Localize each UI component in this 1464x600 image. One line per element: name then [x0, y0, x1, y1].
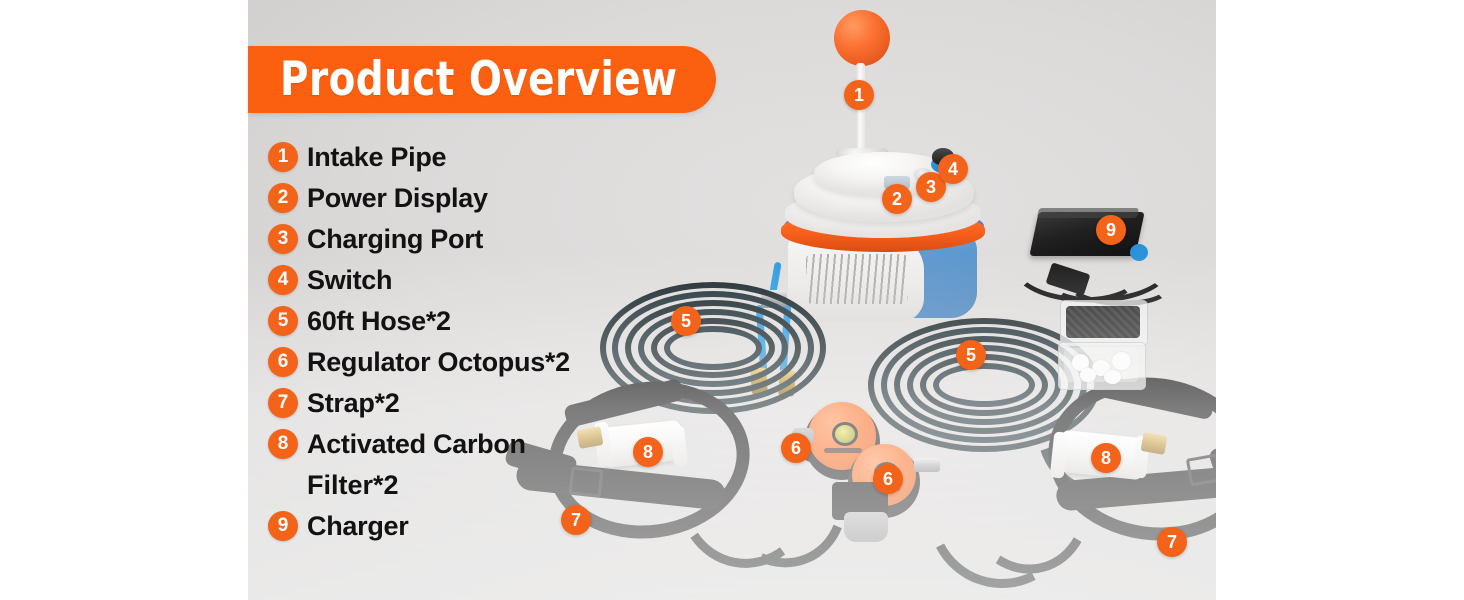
legend-item-charger: 9 Charger [268, 507, 668, 548]
legend-item-intake-pipe: 1 Intake Pipe [268, 138, 668, 179]
legend-label: Intake Pipe [307, 138, 446, 176]
photo-badge-switch: 4 [938, 154, 968, 184]
legend-item-charging-port: 3 Charging Port [268, 220, 668, 261]
legend-label: Strap*2 [307, 384, 399, 422]
photo-badge-charger: 9 [1096, 215, 1126, 245]
legend-item-regulator-octopus: 6 Regulator Octopus*2 [268, 343, 668, 384]
strap-buckle-right [1186, 453, 1216, 486]
legend-label: Charger [307, 507, 408, 545]
legend-badge: 3 [268, 224, 298, 254]
legend-list: 1 Intake Pipe 2 Power Display 3 Charging… [268, 138, 668, 548]
legend-item-activated-carbon-filter-line2: Filter*2 [268, 466, 668, 507]
legend-item-hose: 5 60ft Hose*2 [268, 302, 668, 343]
legend-badge: 6 [268, 347, 298, 377]
photo-badge-strap-right: 7 [1157, 527, 1187, 557]
product-overview-infographic: 1 2 3 4 5 5 6 6 7 7 8 8 9 Product Overvi… [0, 0, 1464, 600]
legend-item-activated-carbon-filter: 8 Activated Carbon [268, 425, 668, 466]
legend-item-strap: 7 Strap*2 [268, 384, 668, 425]
page-title: Product Overview [280, 56, 678, 103]
legend-label: Switch [307, 261, 392, 299]
legend-label: 60ft Hose*2 [307, 302, 451, 340]
legend-label: Regulator Octopus*2 [307, 343, 570, 381]
photo-badge-regulator-left: 6 [781, 433, 811, 463]
photo-badge-regulator-right: 6 [873, 464, 903, 494]
title-banner: Product Overview [248, 46, 716, 113]
photo-badge-intake-pipe: 1 [844, 80, 874, 110]
legend-badge: 2 [268, 183, 298, 213]
legend-badge: 5 [268, 306, 298, 336]
photo-badge-hose-coil-left: 5 [671, 306, 701, 336]
legend-label: Activated Carbon [307, 425, 526, 463]
legend-label-continuation: Filter*2 [307, 466, 399, 504]
legend-item-power-display: 2 Power Display [268, 179, 668, 220]
legend-badge: 7 [268, 388, 298, 418]
legend-item-switch: 4 Switch [268, 261, 668, 302]
legend-label: Charging Port [307, 220, 483, 258]
legend-label: Power Display [307, 179, 488, 217]
legend-badge: 1 [268, 142, 298, 172]
photo-badge-power-display: 2 [882, 184, 912, 214]
legend-badge: 9 [268, 511, 298, 541]
legend-badge: 8 [268, 429, 298, 459]
legend-badge: 4 [268, 265, 298, 295]
intake-float-ball [834, 10, 890, 66]
photo-badge-hose-coil-right: 5 [956, 340, 986, 370]
photo-badge-carbon-filter-right: 8 [1091, 443, 1121, 473]
